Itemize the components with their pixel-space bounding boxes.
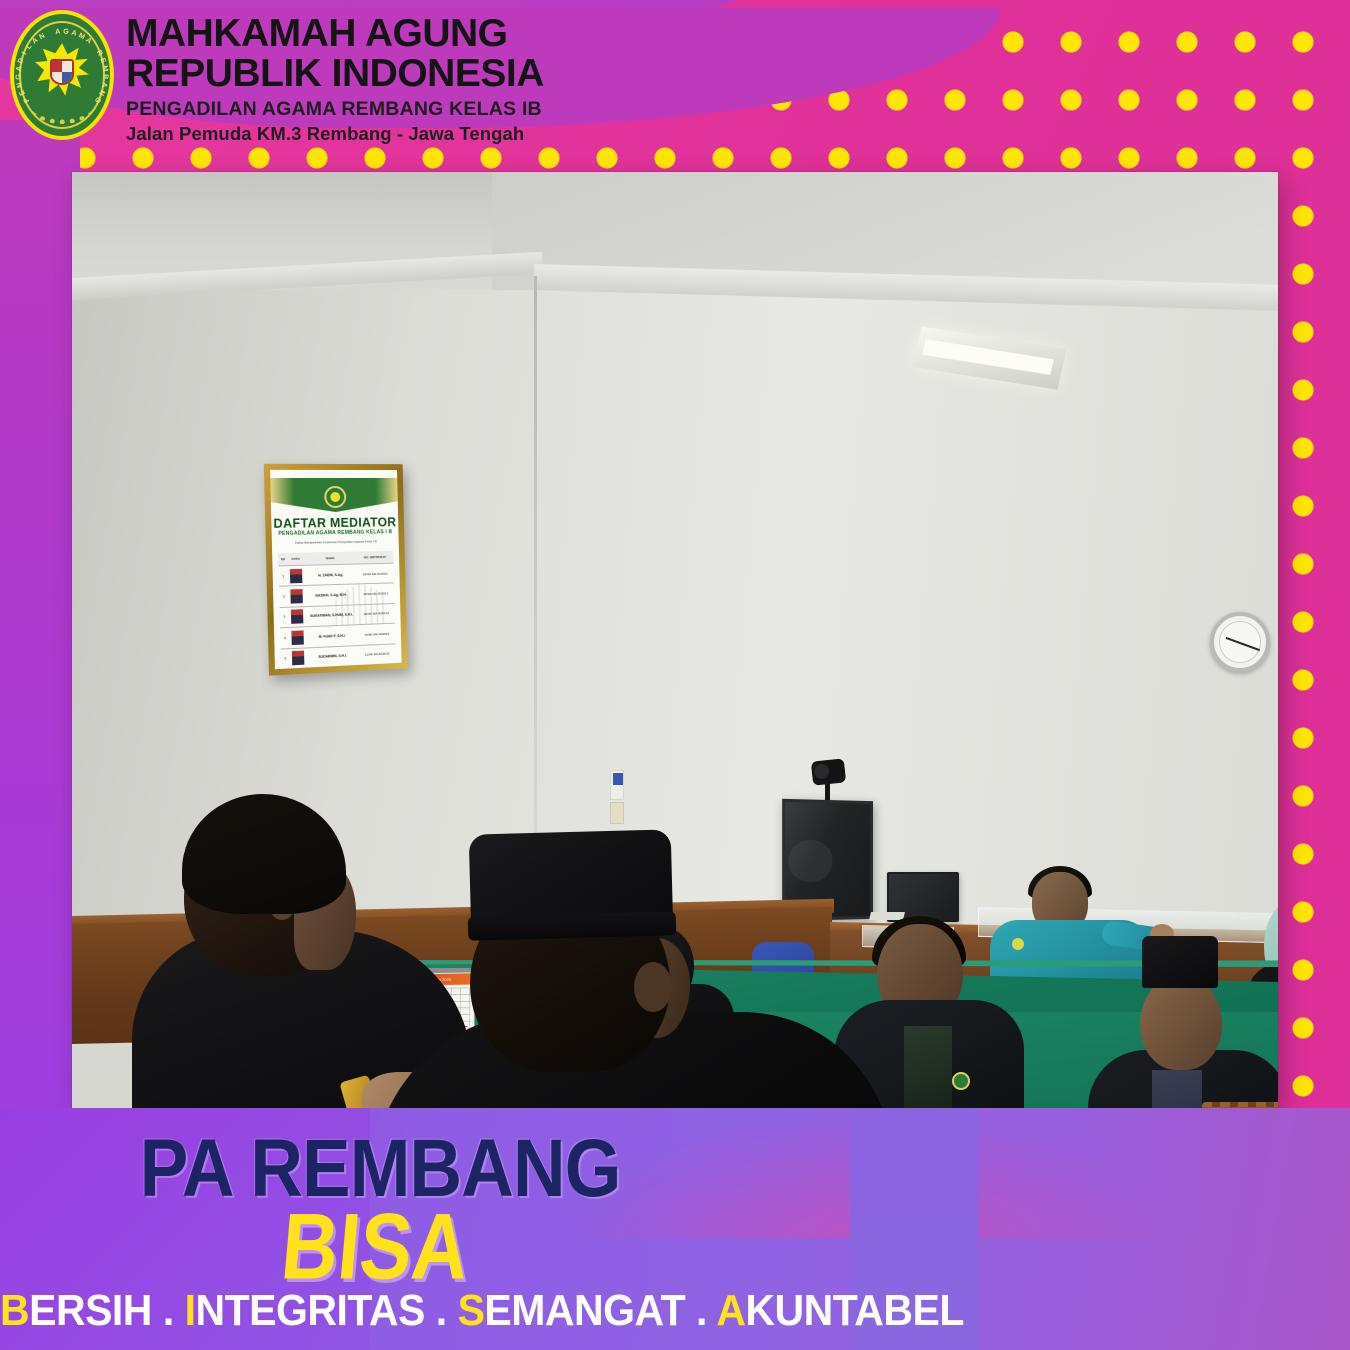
person-smiling-emblem — [952, 1072, 970, 1090]
person-peci-right-cap — [1142, 936, 1218, 988]
wall-socket-icon — [610, 802, 624, 824]
framed-mediator-list: DAFTAR MEDIATOR PENGADILAN AGAMA REMBANG… — [264, 464, 408, 676]
person-smiling-shirt — [904, 1026, 952, 1108]
org-line-2: REPUBLIK INDONESIA — [126, 54, 544, 94]
poster-note: Daftar Berdasarkan Keputusan Pengadilan … — [272, 539, 399, 546]
person-peci-right-head — [1140, 976, 1222, 1070]
tagline-word: NTEGRITAS — [196, 1286, 425, 1335]
tagline-initial: I — [185, 1286, 196, 1335]
court-name: PENGADILAN AGAMA REMBANG KELAS IB — [126, 97, 544, 122]
poster-canvas: PENGADILAN AGAMA REMBANG MAHKAMAH AGUNG … — [0, 0, 1350, 1350]
tagline-initial: A — [716, 1286, 745, 1335]
mediator-table: NOFOTONAMANO. SERTIFIKAT1H. ZAENI, S.Ag.… — [278, 551, 395, 663]
webcam-lens — [814, 764, 829, 779]
tv-glare — [788, 840, 833, 883]
wall-clock-icon — [1210, 612, 1270, 672]
header-text-block: MAHKAMAH AGUNG REPUBLIK INDONESIA PENGAD… — [126, 14, 544, 146]
court-seal-logo: PENGADILAN AGAMA REMBANG — [10, 10, 114, 140]
mediator-table-row: 5SUDARMIN, S.H.I.11/SK.MA.RI/2015 — [281, 643, 396, 669]
mediator-poster: DAFTAR MEDIATOR PENGADILAN AGAMA REMBANG… — [270, 470, 402, 669]
poster-logo-icon — [324, 486, 346, 508]
purple-left-band — [0, 120, 80, 1130]
court-address: Jalan Pemuda KM.3 Rembang - Jawa Tengah — [126, 122, 544, 146]
person-center-ear — [634, 962, 672, 1012]
seal-shield-icon — [50, 59, 74, 85]
seal-wreath-icon — [32, 93, 92, 124]
wall-switch-icon — [610, 770, 624, 800]
tagline-word: EMANGAT — [484, 1286, 685, 1335]
tagline-initial: B — [0, 1286, 29, 1335]
footer-slogan: BISA — [0, 1192, 760, 1301]
tagline-word: ERSIH — [29, 1286, 152, 1335]
tagline-separator: . — [685, 1286, 716, 1335]
tagline-separator: . — [425, 1286, 458, 1335]
tagline-initial: S — [458, 1286, 485, 1335]
poster-subtitle: PENGADILAN AGAMA REMBANG KELAS I B — [272, 529, 399, 537]
person-teal-logo — [1012, 938, 1024, 950]
footer-tagline: BERSIH . INTEGRITAS . SEMANGAT . AKUNTAB… — [0, 1286, 800, 1336]
wall-corner-line — [534, 276, 537, 836]
event-photo: DAFTAR MEDIATOR PENGADILAN AGAMA REMBANG… — [72, 172, 1278, 1108]
header-bar: PENGADILAN AGAMA REMBANG MAHKAMAH AGUNG … — [0, 0, 800, 172]
tagline-separator: . — [152, 1286, 185, 1335]
person-peci-right-shirt — [1152, 1070, 1202, 1108]
tagline-word: KUNTABEL — [745, 1286, 963, 1335]
org-line-1: MAHKAMAH AGUNG — [126, 14, 544, 54]
